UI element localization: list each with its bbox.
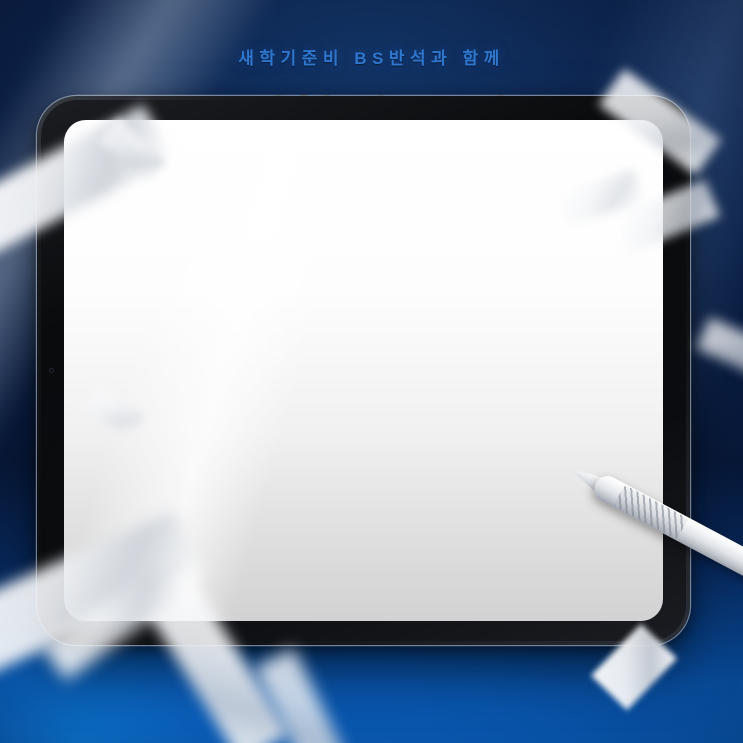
- poster-canvas: 새학기준비 BS반석과 함께 새학기 준비 BS반석과 함께 해야하는 이유: [0, 0, 743, 743]
- screen-glare: [64, 120, 509, 621]
- top-banner: 새학기준비 BS반석과 함께: [0, 44, 743, 69]
- tablet-device: [37, 96, 690, 645]
- top-banner-text: 새학기준비 BS반석과 함께: [238, 44, 504, 69]
- front-camera-icon: [49, 368, 54, 373]
- tablet-screen: [64, 120, 663, 621]
